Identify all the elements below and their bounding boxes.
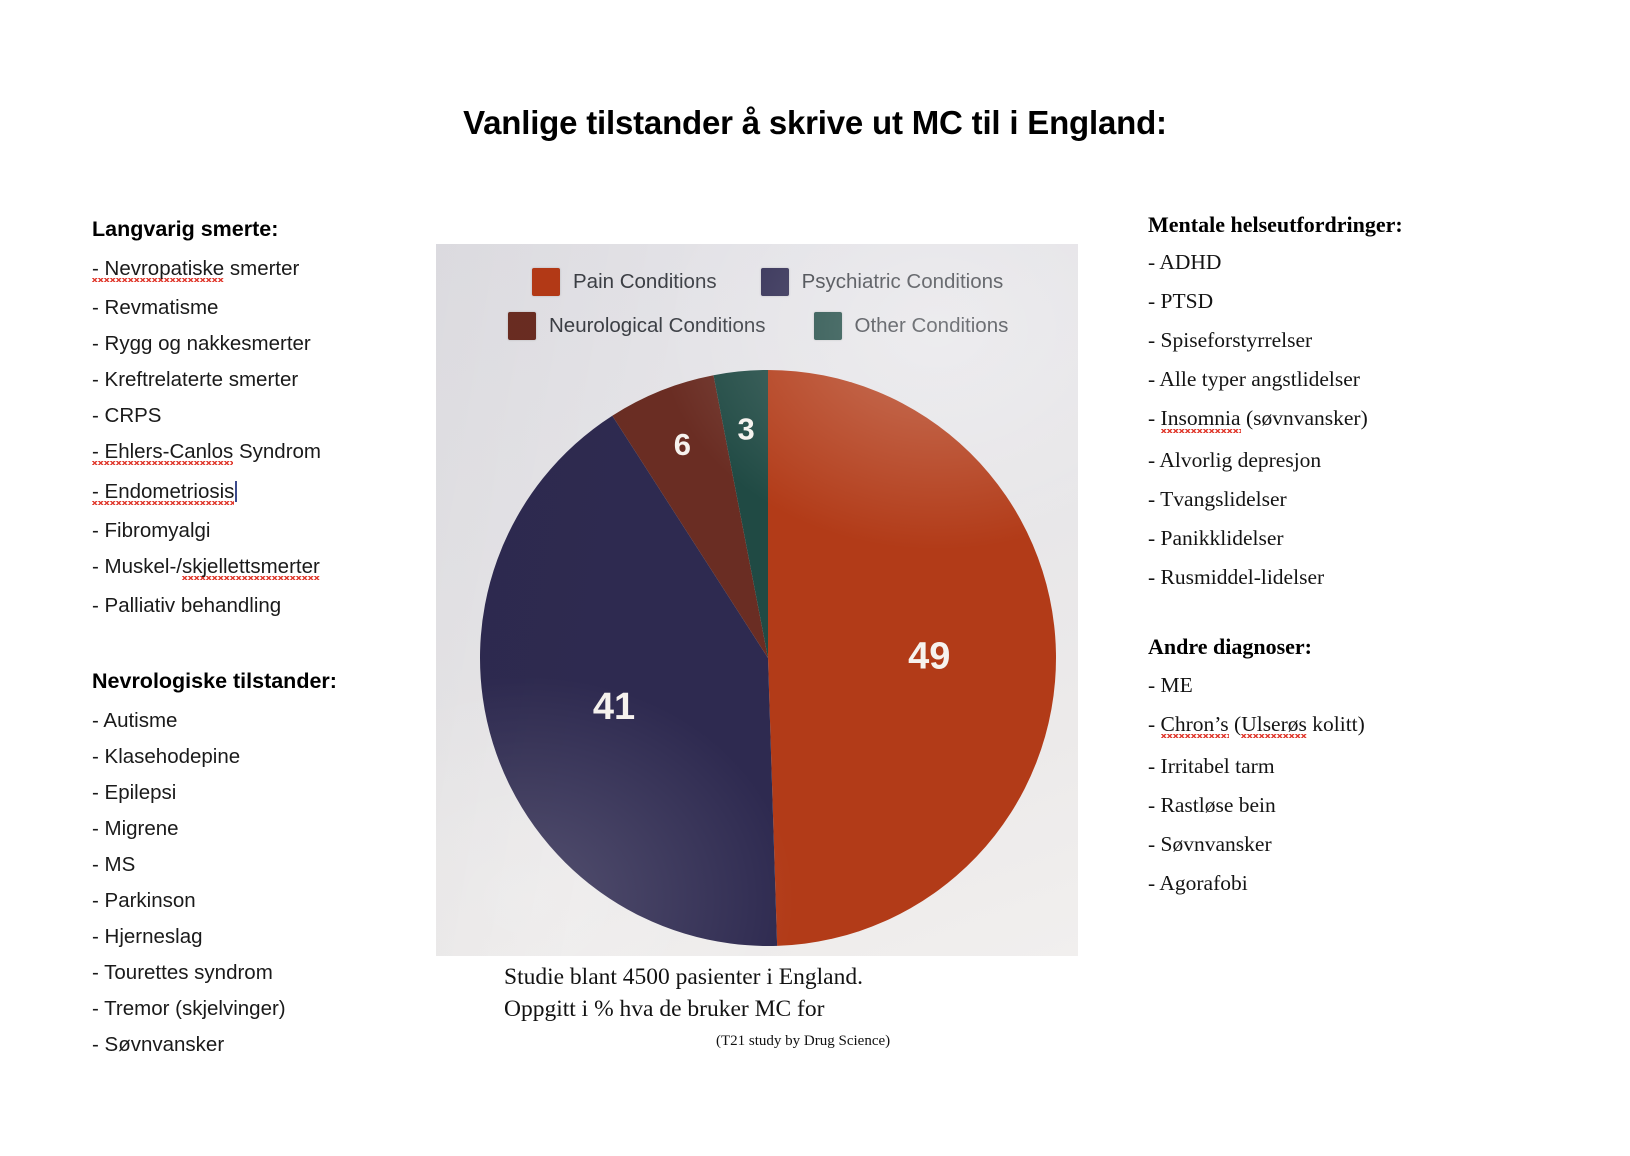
slice-value-label: 41 <box>593 686 635 728</box>
list-item: - Rusmiddel-lidelser <box>1148 567 1508 589</box>
section-heading-langvarig-smerte: Langvarig smerte: <box>92 216 422 243</box>
list-item: - Endometriosis <box>92 481 422 506</box>
slice-value-label: 3 <box>737 412 754 447</box>
list-item: - Panikklidelser <box>1148 528 1508 550</box>
list-item: - Parkinson <box>92 891 422 912</box>
list-item: - Kreftrelaterte smerter <box>92 370 422 391</box>
legend-swatch-icon <box>532 268 560 296</box>
right-column: Mentale helseutfordringer: - ADHD - PTSD… <box>1148 212 1508 912</box>
caption-attribution: (T21 study by Drug Science) <box>504 1033 1064 1050</box>
list-item: - Ehlers-Canlos Syndrom <box>92 442 422 466</box>
list-item: - Palliativ behandling <box>92 596 422 617</box>
list-item: - CRPS <box>92 406 422 427</box>
list-item: - MS <box>92 855 422 876</box>
legend-label: Pain Conditions <box>573 270 717 294</box>
list-item: - Alvorlig depresjon <box>1148 450 1508 472</box>
caption-line-1: Studie blant 4500 pasienter i England. <box>504 962 1064 994</box>
list-item: - Spiseforstyrrelser <box>1148 330 1508 352</box>
pie-chart-svg: 49 41 6 3 <box>477 367 1059 949</box>
section-divider-spacer <box>92 632 422 668</box>
page-title: Vanlige tilstander å skrive ut MC til i … <box>0 104 1630 142</box>
list-item: - Nevropatiske smerter <box>92 259 422 283</box>
list-item: - PTSD <box>1148 291 1508 313</box>
chart-caption: Studie blant 4500 pasienter i England. O… <box>504 962 1064 1050</box>
section-heading-nevrologiske-tilstander: Nevrologiske tilstander: <box>92 668 422 695</box>
legend-label: Neurological Conditions <box>549 314 766 338</box>
list-item: - Tourettes syndrom <box>92 963 422 984</box>
list-item: - Hjerneslag <box>92 927 422 948</box>
list-item: - Insomnia (søvnvansker) <box>1148 408 1508 433</box>
list-item: - Migrene <box>92 819 422 840</box>
legend-swatch-icon <box>814 312 842 340</box>
slice-value-label: 49 <box>908 635 950 677</box>
caption-line-2: Oppgitt i % hva de bruker MC for <box>504 994 1064 1026</box>
chart-legend: Pain Conditions Psychiatric Conditions N… <box>436 260 1078 348</box>
misspelled-word: Chron’s <box>1161 714 1229 739</box>
list-item: - Rastløse bein <box>1148 795 1508 817</box>
misspelled-word: - Ehlers-Canlos <box>92 442 233 466</box>
legend-row: Pain Conditions Psychiatric Conditions <box>436 260 1078 304</box>
list-item: - Søvnvansker <box>1148 834 1508 856</box>
list-mentale-helseutfordringer: - ADHD - PTSD - Spiseforstyrrelser - All… <box>1148 252 1508 589</box>
legend-row: Neurological Conditions Other Conditions <box>436 304 1078 348</box>
text-cursor <box>235 481 237 502</box>
list-item: - Klasehodepine <box>92 747 422 768</box>
legend-item-neurological-conditions: Neurological Conditions <box>508 312 766 340</box>
list-item: - Chron’s (Ulserøs kolitt) <box>1148 714 1508 739</box>
legend-swatch-icon <box>761 268 789 296</box>
list-item: - Tremor (skjelvinger) <box>92 999 422 1020</box>
section-heading-andre-diagnoser: Andre diagnoser: <box>1148 634 1508 660</box>
misspelled-word: - Nevropatiske <box>92 259 224 283</box>
pie-chart-photo: Pain Conditions Psychiatric Conditions N… <box>436 244 1078 956</box>
list-item: - ADHD <box>1148 252 1508 274</box>
list-langvarig-smerte: - Nevropatiske smerter - Revmatisme - Ry… <box>92 259 422 617</box>
list-nevrologiske-tilstander: - Autisme - Klasehodepine - Epilepsi - M… <box>92 711 422 1056</box>
legend-item-pain-conditions: Pain Conditions <box>532 268 717 296</box>
legend-label: Psychiatric Conditions <box>802 270 1004 294</box>
legend-swatch-icon <box>508 312 536 340</box>
list-item: - Autisme <box>92 711 422 732</box>
list-item: - Alle typer angstlidelser <box>1148 369 1508 391</box>
misspelled-word: Insomnia <box>1161 408 1241 433</box>
slice-value-label: 6 <box>674 427 691 462</box>
list-item: - Agorafobi <box>1148 873 1508 895</box>
section-divider-spacer <box>1148 606 1508 634</box>
list-item: - Muskel-/skjellettsmerter <box>92 557 422 581</box>
section-heading-mentale-helseutfordringer: Mentale helseutfordringer: <box>1148 212 1508 238</box>
legend-label: Other Conditions <box>855 314 1009 338</box>
list-item: - Epilepsi <box>92 783 422 804</box>
misspelled-word: skjellettsmerter <box>182 557 320 581</box>
list-item: - Revmatisme <box>92 298 422 319</box>
misspelled-word: - Endometriosis <box>92 482 234 506</box>
list-item: - Søvnvansker <box>92 1035 422 1056</box>
list-item: - Irritabel tarm <box>1148 756 1508 778</box>
list-item: - Fibromyalgi <box>92 521 422 542</box>
list-item: - Rygg og nakkesmerter <box>92 334 422 355</box>
legend-item-other-conditions: Other Conditions <box>814 312 1009 340</box>
left-column: Langvarig smerte: - Nevropatiske smerter… <box>92 216 422 1071</box>
legend-item-psychiatric-conditions: Psychiatric Conditions <box>761 268 1004 296</box>
misspelled-word: Ulserøs <box>1241 714 1307 739</box>
pie-chart: 49 41 6 3 <box>477 367 1059 949</box>
list-item: - ME <box>1148 675 1508 697</box>
list-andre-diagnoser: - ME - Chron’s (Ulserøs kolitt) - Irrita… <box>1148 675 1508 895</box>
list-item: - Tvangslidelser <box>1148 489 1508 511</box>
